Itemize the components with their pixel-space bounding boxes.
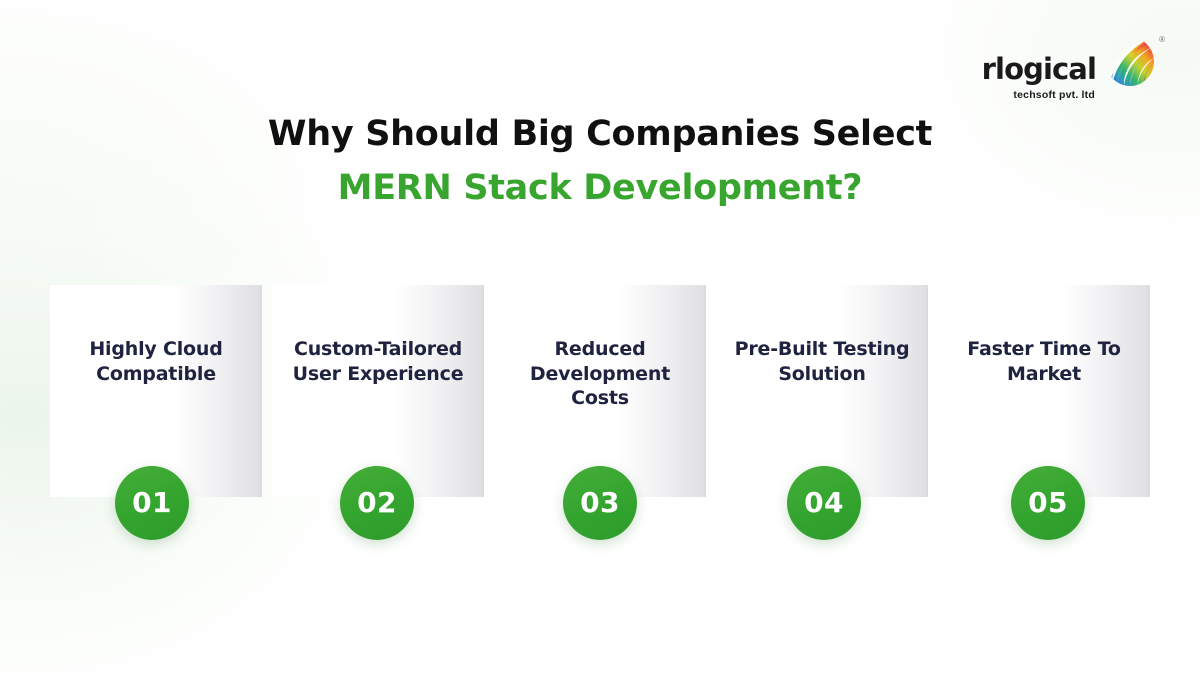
feature-card-04[interactable]: Pre-Built Testing Solution <box>716 285 928 497</box>
card-title: Custom-Tailored User Experience <box>286 337 470 497</box>
card-title: Highly Cloud Compatible <box>64 337 248 497</box>
page-title-line-1: Why Should Big Companies Select <box>0 112 1200 157</box>
card-title: Pre-Built Testing Solution <box>730 337 914 497</box>
page-title-line-2: MERN Stack Development? <box>0 166 1200 211</box>
card-body: Reduced Development Costs <box>494 285 706 497</box>
brand-tagline: techsoft pvt. ltd <box>1013 90 1095 101</box>
card-title: Faster Time To Market <box>952 337 1136 497</box>
feature-card-row: Highly Cloud Compatible Custom-Tailored … <box>50 285 1152 497</box>
card-body: Faster Time To Market <box>938 285 1150 497</box>
brand-wordmark: rlogical <box>982 55 1096 84</box>
card-body: Highly Cloud Compatible <box>50 285 262 497</box>
page-title: Why Should Big Companies Select MERN Sta… <box>0 112 1200 211</box>
feature-card-01[interactable]: Highly Cloud Compatible <box>50 285 262 497</box>
card-body: Custom-Tailored User Experience <box>272 285 484 497</box>
feature-card-02[interactable]: Custom-Tailored User Experience <box>272 285 484 497</box>
brand-logo[interactable]: rlogical techsoft pvt. ltd <box>982 34 1158 101</box>
feature-card-03[interactable]: Reduced Development Costs <box>494 285 706 497</box>
brand-logo-text: rlogical techsoft pvt. ltd <box>982 34 1096 101</box>
card-body: Pre-Built Testing Solution <box>716 285 928 497</box>
rainbow-leaf-logo-icon: ® <box>1102 34 1158 90</box>
infographic-stage: rlogical techsoft pvt. ltd <box>0 0 1200 675</box>
feature-card-05[interactable]: Faster Time To Market <box>938 285 1150 497</box>
card-title: Reduced Development Costs <box>508 337 692 497</box>
registered-trademark-icon: ® <box>1159 36 1165 44</box>
